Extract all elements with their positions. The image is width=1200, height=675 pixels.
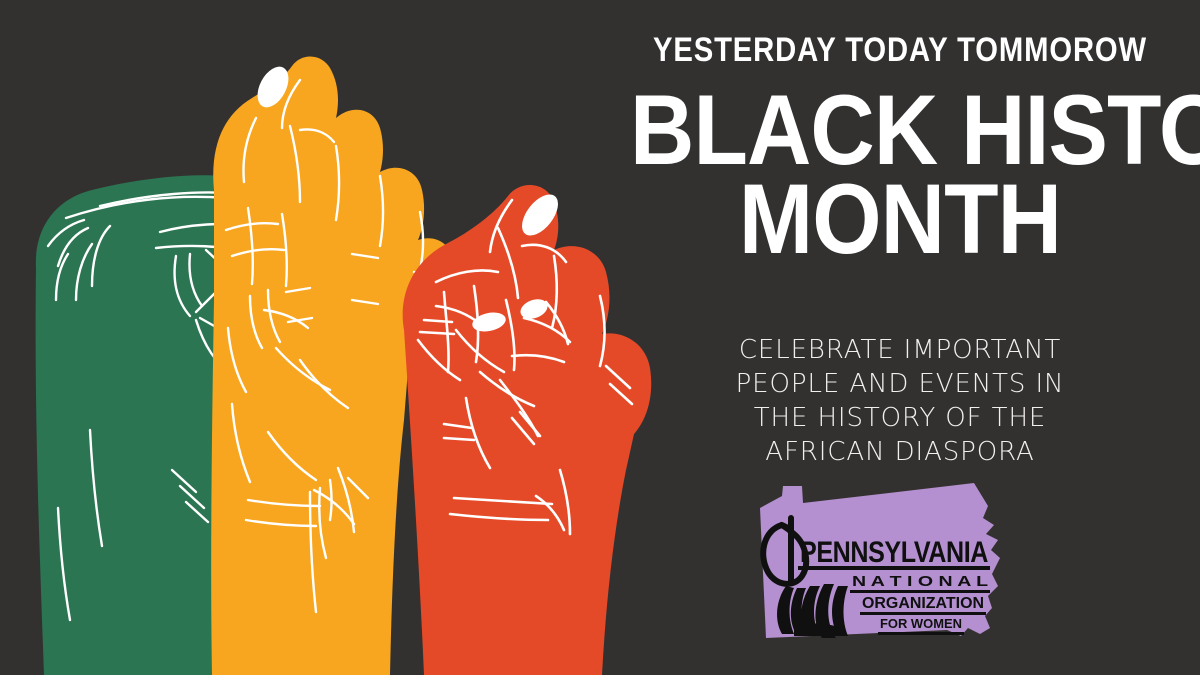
headline-line-month: MONTH (630, 177, 1170, 260)
body-copy: CELEBRATE IMPORTANT PEOPLE AND EVENTS IN… (600, 333, 1200, 469)
tagline: YESTERDAY TODAY TOMMOROW (642, 33, 1158, 67)
text-column: YESTERDAY TODAY TOMMOROW BLACK HISTORY M… (600, 0, 1200, 675)
three-fists-illustration (0, 0, 700, 675)
body-copy-line-3: THE HISTORY OF THE (600, 401, 1200, 435)
body-copy-line-1: CELEBRATE IMPORTANT (600, 333, 1200, 367)
logo-line-for-women: FOR WOMEN (880, 616, 962, 631)
body-copy-line-2: PEOPLE AND EVENTS IN (600, 367, 1200, 401)
logo-line-organization: ORGANIZATION (862, 595, 984, 612)
page-title: BLACK HISTORY MONTH (600, 88, 1200, 260)
headline-line-black-history: BLACK HISTORY (630, 88, 1170, 171)
logo-line-national: N A T I O N A L (852, 573, 988, 590)
black-history-month-poster: YESTERDAY TODAY TOMMOROW BLACK HISTORY M… (0, 0, 1200, 675)
pennsylvania-now-logo: PENNSYLVANIA N A T I O N A L ORGANIZATIO… (742, 478, 1032, 650)
logo-wordmark-pennsylvania: PENNSYLVANIA (800, 536, 988, 569)
body-copy-line-4: AFRICAN DIASPORA (600, 435, 1200, 469)
